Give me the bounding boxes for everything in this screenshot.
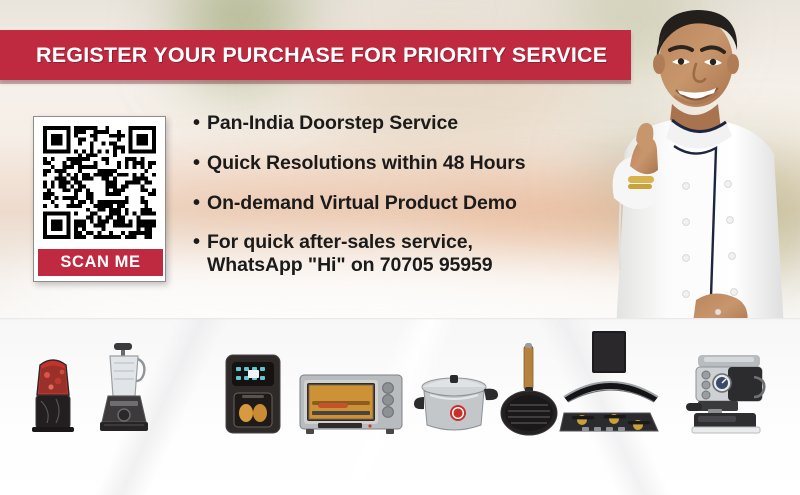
- chef-portrait: [612, 0, 800, 330]
- benefit-text: Pan-India Doorstep Service: [207, 112, 458, 135]
- qr-code-card[interactable]: SCAN ME: [33, 116, 166, 282]
- promotional-banner: REGISTER YOUR PURCHASE FOR PRIORITY SERV…: [0, 0, 800, 495]
- qr-code-icon[interactable]: [43, 126, 156, 239]
- benefits-list: • Pan-India Doorstep Service • Quick Res…: [193, 112, 573, 277]
- smart-appliance-icon: [88, 341, 160, 437]
- list-item: • Pan-India Doorstep Service: [193, 112, 573, 135]
- list-item: • Quick Resolutions within 48 Hours: [193, 152, 573, 175]
- bullet-icon: •: [193, 192, 207, 214]
- product-category-strip: Mixer Grinders Smart Appliances Air Frye…: [0, 318, 800, 495]
- mixer-grinder-icon: [18, 345, 88, 433]
- headline-text: REGISTER YOUR PURCHASE FOR PRIORITY SERV…: [36, 43, 607, 68]
- scan-me-label: SCAN ME: [38, 249, 163, 276]
- pressure-cooker-icon: [412, 367, 500, 437]
- benefit-text: On-demand Virtual Product Demo: [207, 192, 517, 215]
- air-fryer-icon: [222, 351, 284, 437]
- list-item: • On-demand Virtual Product Demo: [193, 192, 573, 215]
- coffee-machine-icon: [684, 351, 774, 437]
- bullet-icon: •: [193, 112, 207, 134]
- benefit-text: For quick after-sales service, WhatsApp …: [207, 231, 493, 277]
- benefit-text: Quick Resolutions within 48 Hours: [207, 152, 526, 175]
- cooktop-chimney-icon: [556, 331, 666, 441]
- headline-banner: REGISTER YOUR PURCHASE FOR PRIORITY SERV…: [0, 30, 631, 80]
- grill-pan-icon: [498, 343, 562, 437]
- bullet-icon: •: [193, 152, 207, 174]
- list-item: • For quick after-sales service, WhatsAp…: [193, 231, 573, 277]
- bullet-icon: •: [193, 231, 207, 253]
- otg-oven-icon: [298, 371, 404, 437]
